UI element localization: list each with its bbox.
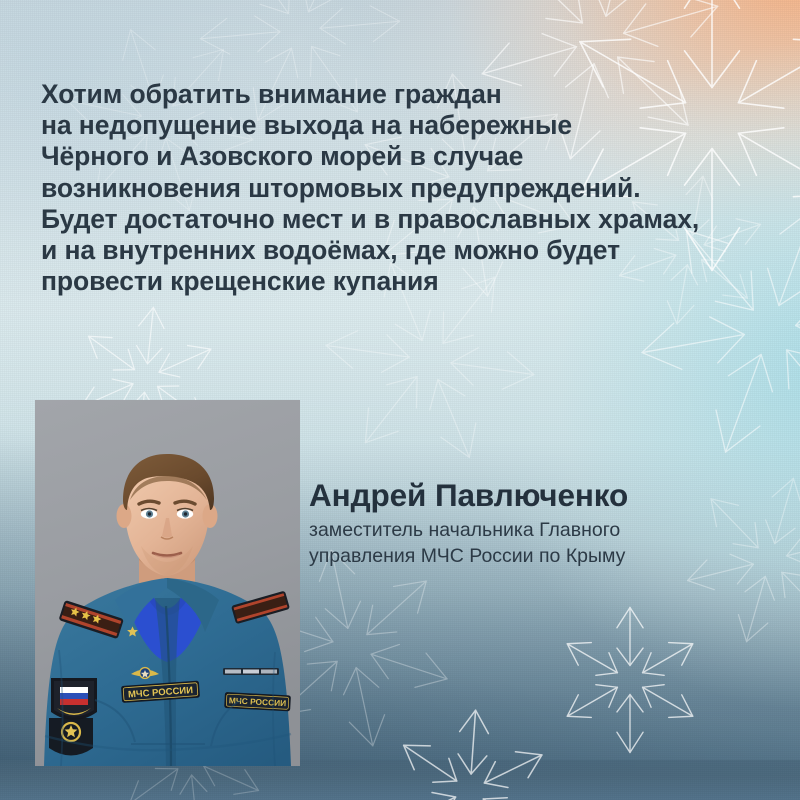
speaker-role-line: управления МЧС России по Крыму <box>309 544 779 570</box>
quote-line: возникновения штормовых предупреждений. <box>41 173 771 204</box>
quote-line: провести крещенские купания <box>41 266 771 297</box>
quote-line: и на внутренних водоёмах, где можно буде… <box>41 235 771 266</box>
speaker-role-line: заместитель начальника Главного <box>309 518 779 544</box>
speaker-photo: МЧС РОССИИ МЧС РОССИИ <box>35 400 300 766</box>
speaker-info: Андрей Павлюченко заместитель начальника… <box>309 477 779 569</box>
info-card: Хотим обратить внимание граждан на недоп… <box>0 0 800 800</box>
quote-text: Хотим обратить внимание граждан на недоп… <box>41 79 771 297</box>
speaker-role: заместитель начальника Главного управлен… <box>309 518 779 569</box>
quote-line: Хотим обратить внимание граждан <box>41 79 771 110</box>
quote-line: Чёрного и Азовского морей в случае <box>41 141 771 172</box>
speaker-name: Андрей Павлюченко <box>309 477 779 514</box>
snowflake-icon <box>388 705 552 800</box>
quote-line: на недопущение выхода на набережные <box>41 110 771 141</box>
snowflake-icon <box>561 608 700 753</box>
quote-line: Будет достаточно мест и в православных х… <box>41 204 771 235</box>
